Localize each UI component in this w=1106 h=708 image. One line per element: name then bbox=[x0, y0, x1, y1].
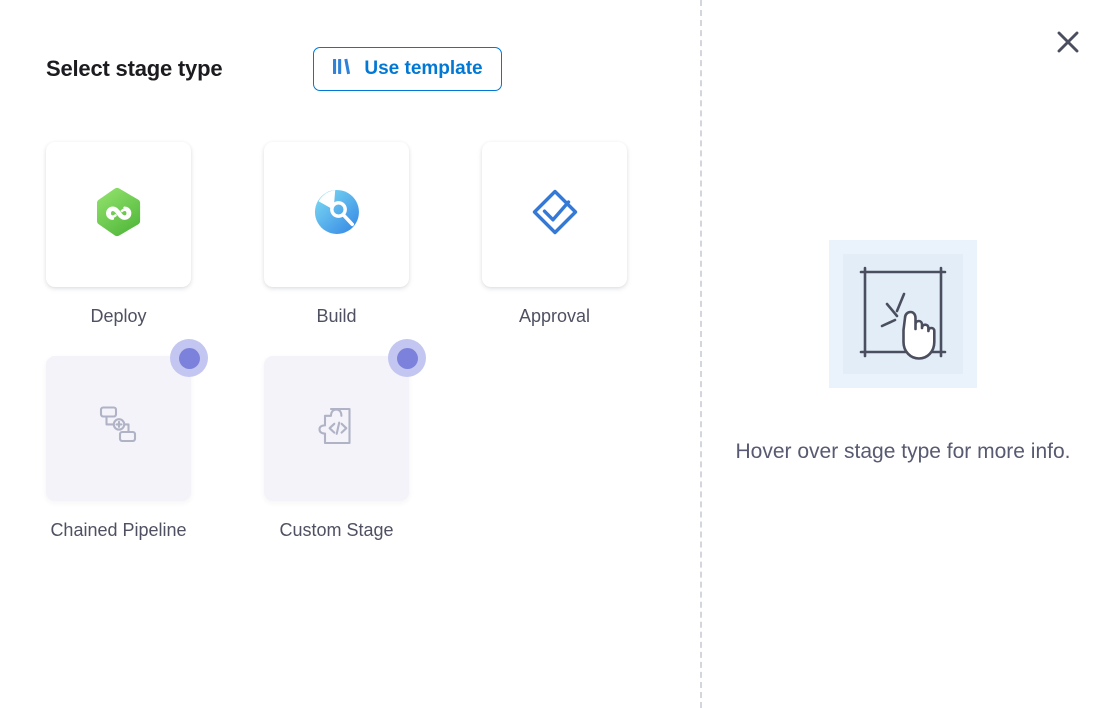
stage-option-chained-pipeline: Chained Pipeline bbox=[46, 356, 191, 546]
panel-header: Select stage type Use template bbox=[46, 46, 700, 92]
hand-click-square-icon bbox=[847, 256, 959, 373]
stage-label: Approval bbox=[519, 301, 590, 332]
stage-option-approval[interactable]: Approval bbox=[482, 142, 627, 332]
custom-stage-puzzle-code-icon bbox=[315, 403, 359, 454]
stage-card[interactable] bbox=[46, 142, 191, 287]
harness-cd-hexagon-icon bbox=[96, 187, 142, 242]
stage-info-panel: Hover over stage type for more info. bbox=[700, 0, 1106, 708]
hover-illustration bbox=[829, 240, 977, 388]
hover-info-message: Hover over stage type for more info. bbox=[731, 436, 1075, 468]
page-title: Select stage type bbox=[46, 46, 222, 92]
stage-card bbox=[264, 356, 409, 501]
stage-selection-panel: Select stage type Use template bbox=[0, 0, 700, 708]
stage-label: Custom Stage bbox=[279, 515, 393, 546]
unavailable-dot-icon bbox=[388, 339, 426, 377]
stage-type-grid: Deploy bbox=[46, 142, 626, 546]
stage-option-build[interactable]: Build bbox=[264, 142, 409, 332]
stage-card bbox=[46, 356, 191, 501]
stage-card[interactable] bbox=[482, 142, 627, 287]
select-stage-type-dialog: Select stage type Use template bbox=[0, 0, 1106, 708]
illustration-inner-tint bbox=[843, 254, 963, 374]
approval-diamond-check-icon bbox=[530, 187, 580, 242]
stage-label: Build bbox=[316, 301, 356, 332]
stage-label: Chained Pipeline bbox=[50, 515, 186, 546]
template-library-icon bbox=[332, 57, 353, 82]
stage-card[interactable] bbox=[264, 142, 409, 287]
unavailable-dot-icon bbox=[170, 339, 208, 377]
harness-ci-circle-icon bbox=[313, 188, 361, 241]
use-template-label: Use template bbox=[364, 58, 482, 80]
stage-label: Deploy bbox=[90, 301, 146, 332]
stage-option-deploy[interactable]: Deploy bbox=[46, 142, 191, 332]
use-template-button[interactable]: Use template bbox=[313, 47, 501, 91]
stage-option-custom-stage: Custom Stage bbox=[264, 356, 409, 546]
chained-pipeline-icon bbox=[95, 402, 143, 455]
